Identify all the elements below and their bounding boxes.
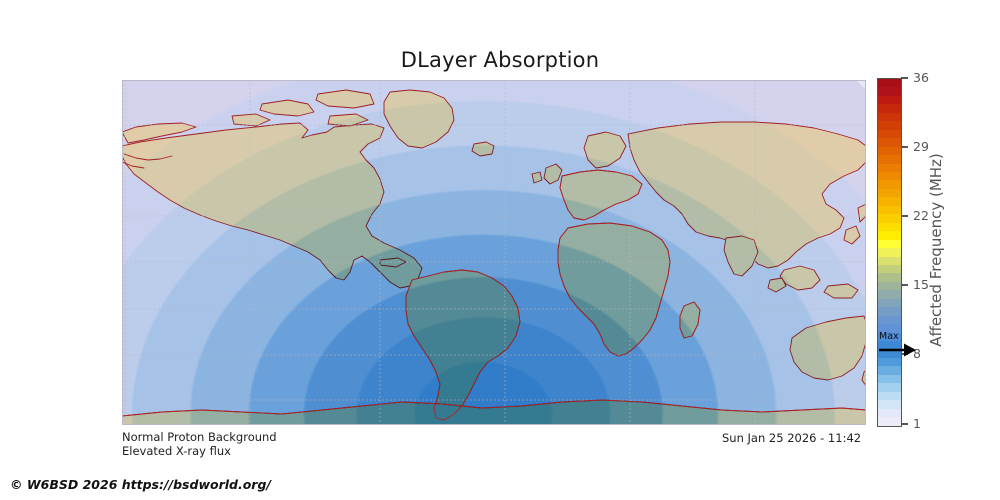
colorbar-band-6 [878,130,901,138]
colorbar-band-24 [878,282,901,290]
tick-dash [901,284,908,285]
tick-dash [901,77,908,78]
footer-credit: © W6BSD 2026 https://bsdworld.org/ [10,477,271,492]
chart-root: DLayer Absorption [0,0,1000,500]
colorbar-band-17 [878,223,901,231]
colorbar-band-40 [878,417,901,425]
world-map-panel [122,80,866,425]
colorbar-band-28 [878,316,901,324]
colorbar-band-15 [878,206,901,214]
colorbar-band-9 [878,155,901,163]
page-title: DLayer Absorption [0,48,1000,72]
colorbar-band-8 [878,147,901,155]
colorbar-band-5 [878,121,901,129]
colorbar-band-26 [878,299,901,307]
colorbar-band-23 [878,273,901,281]
colorbar-axis-label: Affected Frequency (MHz) [916,0,956,500]
colorbar-band-37 [878,392,901,400]
colorbar-band-4 [878,113,901,121]
world-map-svg [122,80,866,425]
tick-dash [901,353,908,354]
colorbar-band-32 [878,350,901,358]
colorbar-band-34 [878,366,901,374]
colorbar-band-19 [878,240,901,248]
colorbar-band-0 [878,79,901,87]
colorbar-band-12 [878,180,901,188]
tick-dash [901,215,908,216]
colorbar-band-11 [878,172,901,180]
colorbar-band-33 [878,358,901,366]
colorbar-band-21 [878,257,901,265]
colorbar-band-18 [878,231,901,239]
colorbar-band-36 [878,383,901,391]
tick-dash [901,146,908,147]
annotation-proton-background: Normal Proton Background [122,430,277,444]
colorbar-band-7 [878,138,901,146]
colorbar[interactable] [877,78,902,427]
absorption-contours [122,80,866,425]
timestamp: Sun Jan 25 2026 - 11:42 [722,431,861,445]
colorbar-band-39 [878,409,901,417]
colorbar-band-13 [878,189,901,197]
colorbar-band-27 [878,307,901,315]
colorbar-band-20 [878,248,901,256]
tick-dash [901,423,908,424]
colorbar-band-10 [878,164,901,172]
colorbar-band-16 [878,214,901,222]
colorbar-band-3 [878,104,901,112]
colorbar-band-35 [878,375,901,383]
colorbar-band-25 [878,290,901,298]
colorbar-band-22 [878,265,901,273]
colorbar-band-14 [878,197,901,205]
annotation-xray-flux: Elevated X-ray flux [122,444,231,458]
colorbar-band-29 [878,324,901,332]
colorbar-band-31 [878,341,901,349]
colorbar-band-1 [878,87,901,95]
colorbar-band-2 [878,96,901,104]
colorbar-band-30 [878,333,901,341]
colorbar-band-38 [878,400,901,408]
